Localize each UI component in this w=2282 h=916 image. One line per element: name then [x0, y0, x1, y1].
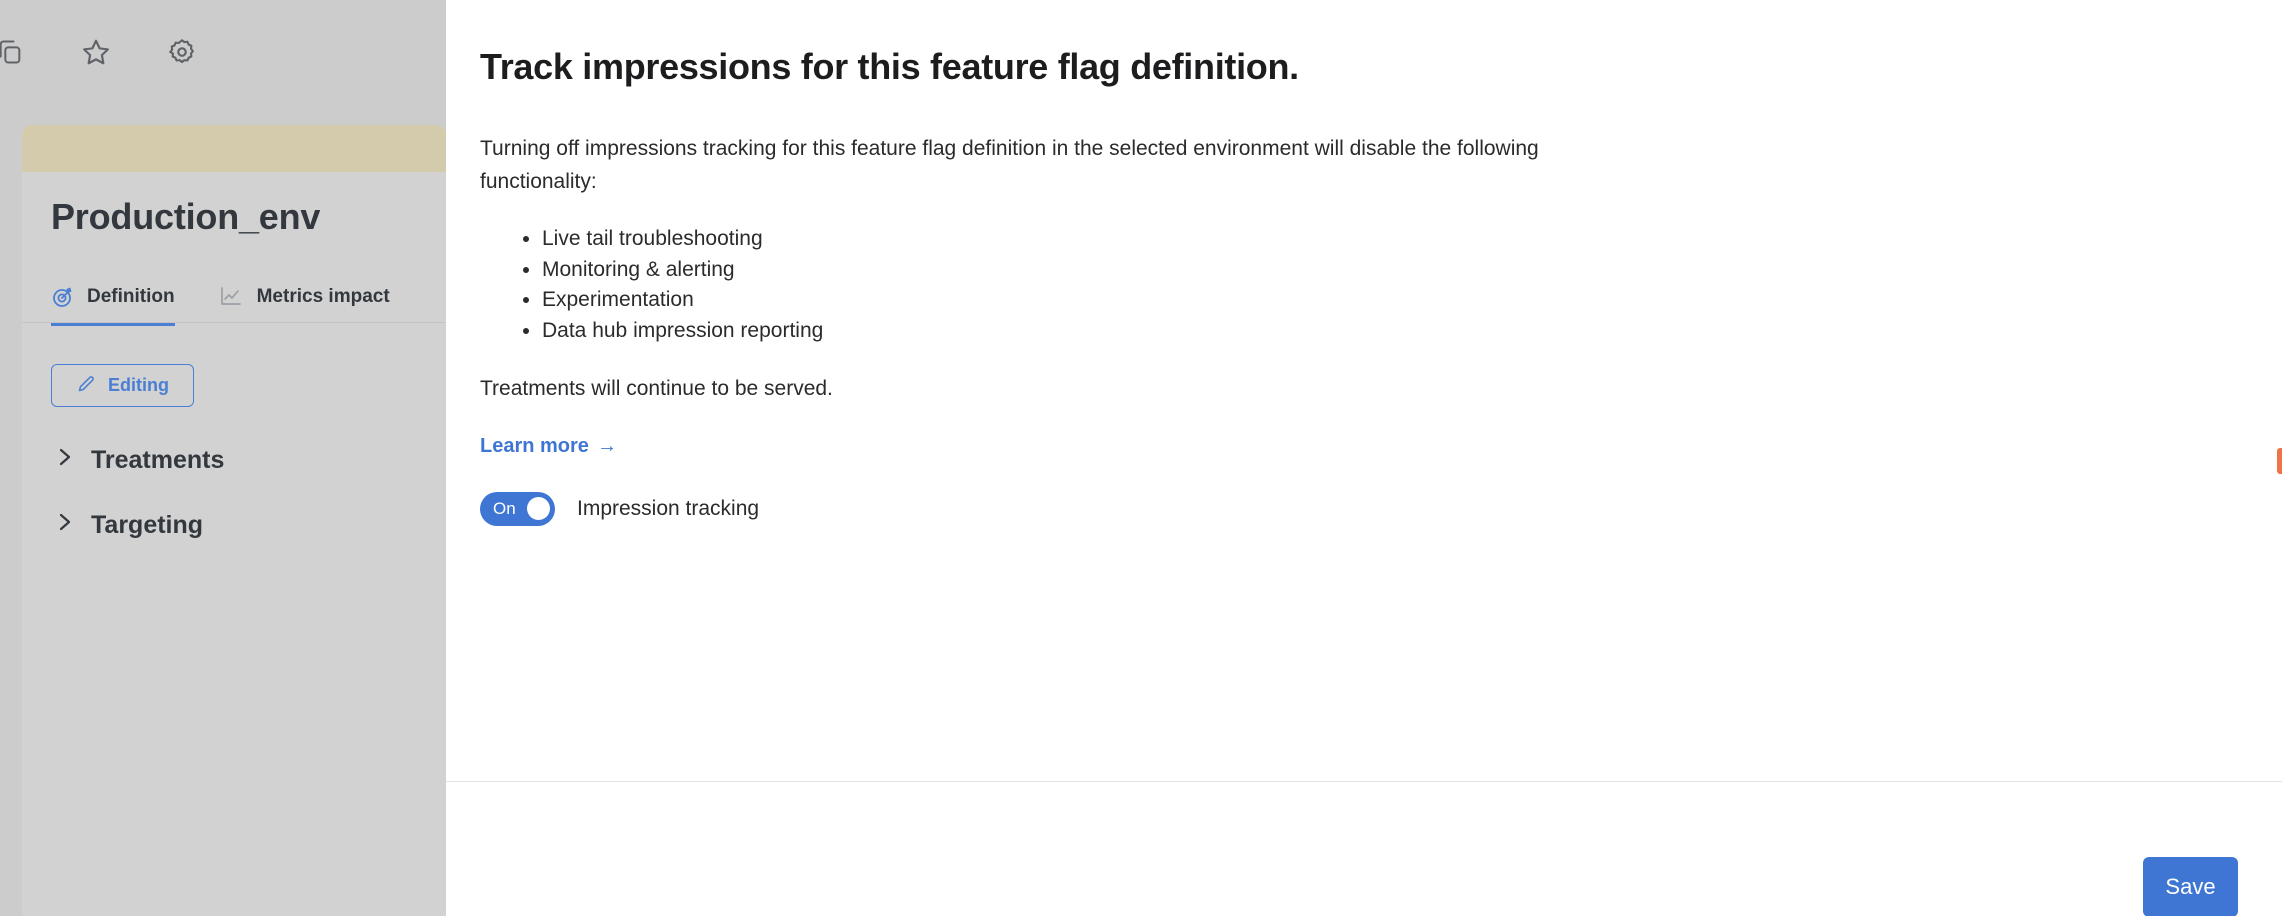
page-title: Production_env: [51, 196, 320, 238]
list-item: Live tail troubleshooting: [542, 224, 2242, 255]
section-targeting[interactable]: Targeting: [56, 511, 203, 540]
tab-metrics-impact[interactable]: Metrics impact: [219, 285, 390, 326]
section-targeting-label: Targeting: [91, 511, 203, 540]
disabled-functionality-list: Live tail troubleshooting Monitoring & a…: [542, 224, 2242, 347]
impressions-modal: Track impressions for this feature flag …: [446, 0, 2282, 916]
list-item: Monitoring & alerting: [542, 255, 2242, 286]
tab-definition-label: Definition: [87, 286, 175, 308]
gear-icon[interactable]: [160, 30, 204, 74]
pencil-icon: [76, 373, 97, 399]
tab-definition[interactable]: Definition: [51, 285, 175, 326]
list-item: Experimentation: [542, 285, 2242, 316]
arrow-right-icon: →: [597, 435, 617, 458]
list-item: Data hub impression reporting: [542, 316, 2242, 347]
modal-title: Track impressions for this feature flag …: [480, 44, 2242, 89]
toggle-state-label: On: [493, 499, 516, 519]
tab-metrics-impact-label: Metrics impact: [257, 286, 390, 308]
card-banner: [22, 125, 446, 172]
editing-button[interactable]: Editing: [51, 364, 194, 407]
save-button[interactable]: Save: [2143, 857, 2238, 916]
line-chart-icon: [219, 285, 245, 309]
modal-footer: Save: [446, 782, 2282, 916]
star-icon[interactable]: [74, 30, 118, 74]
editing-button-label: Editing: [108, 375, 169, 396]
chevron-right-icon: [56, 446, 74, 475]
target-definition-icon: [51, 285, 75, 309]
learn-more-label: Learn more: [480, 435, 589, 458]
learn-more-link[interactable]: Learn more →: [480, 435, 617, 458]
section-treatments[interactable]: Treatments: [56, 446, 224, 475]
section-treatments-label: Treatments: [91, 446, 224, 475]
top-toolbar: [0, 30, 204, 74]
impression-tracking-row: On Impression tracking: [480, 492, 2242, 526]
chevron-right-icon: [56, 511, 74, 540]
duplicate-icon[interactable]: [0, 30, 32, 74]
modal-body: Track impressions for this feature flag …: [446, 0, 2282, 526]
impression-tracking-label: Impression tracking: [577, 497, 759, 521]
feedback-edge-tab[interactable]: [2277, 448, 2282, 474]
toggle-knob: [527, 497, 550, 520]
closing-note: Treatments will continue to be served.: [480, 377, 2242, 401]
modal-paragraph: Turning off impressions tracking for thi…: [480, 133, 1540, 198]
impression-tracking-toggle[interactable]: On: [480, 492, 555, 526]
app-root: Production_env Definition Metrics i: [0, 0, 2282, 916]
tab-bar: Definition Metrics impact: [51, 285, 390, 326]
